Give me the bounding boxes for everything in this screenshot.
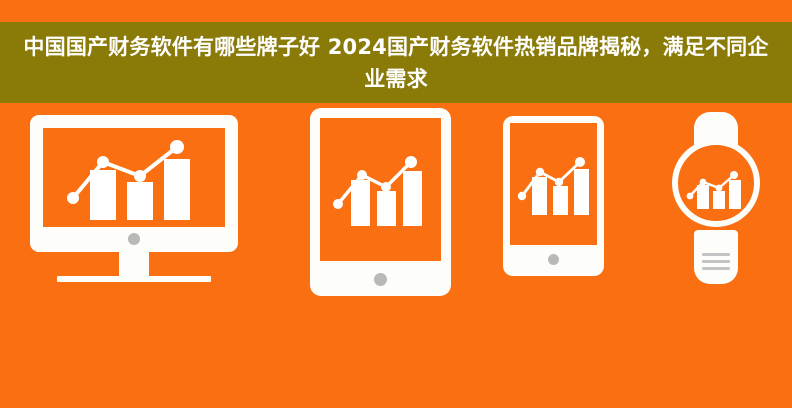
screenshot-canvas: 中国国产财务软件有哪些牌子好 2024国产财务软件热销品牌揭秘，满足不同企业需求 xyxy=(0,0,792,408)
smartphone-icon xyxy=(503,116,604,276)
monitor-stand-base xyxy=(57,276,211,282)
tablet-screen xyxy=(320,118,441,261)
monitor-stand-neck xyxy=(119,251,149,279)
monitor-icon xyxy=(30,115,238,293)
smartwatch-icon xyxy=(663,112,769,284)
page-title: 中国国产财务软件有哪些牌子好 2024国产财务软件热销品牌揭秘，满足不同企业需求 xyxy=(18,31,774,95)
watch-face xyxy=(672,139,760,227)
bar-line-chart-phone xyxy=(510,123,597,245)
monitor-screen xyxy=(43,128,225,227)
monitor-power-indicator xyxy=(128,233,140,245)
watch-band-line xyxy=(702,267,730,270)
title-banner: 中国国产财务软件有哪些牌子好 2024国产财务软件热销品牌揭秘，满足不同企业需求 xyxy=(0,22,792,103)
watch-band-line xyxy=(702,260,730,263)
bar-line-chart-tablet xyxy=(320,118,441,261)
tablet-icon xyxy=(310,108,451,296)
watch-band-line xyxy=(702,253,730,256)
bar-line-chart-monitor xyxy=(43,128,225,227)
tablet-home-button[interactable] xyxy=(374,273,387,286)
watch-band-bottom xyxy=(694,230,738,284)
smartphone-home-button[interactable] xyxy=(548,254,559,265)
bar-line-chart-watch xyxy=(678,145,754,221)
smartphone-screen xyxy=(510,123,597,245)
